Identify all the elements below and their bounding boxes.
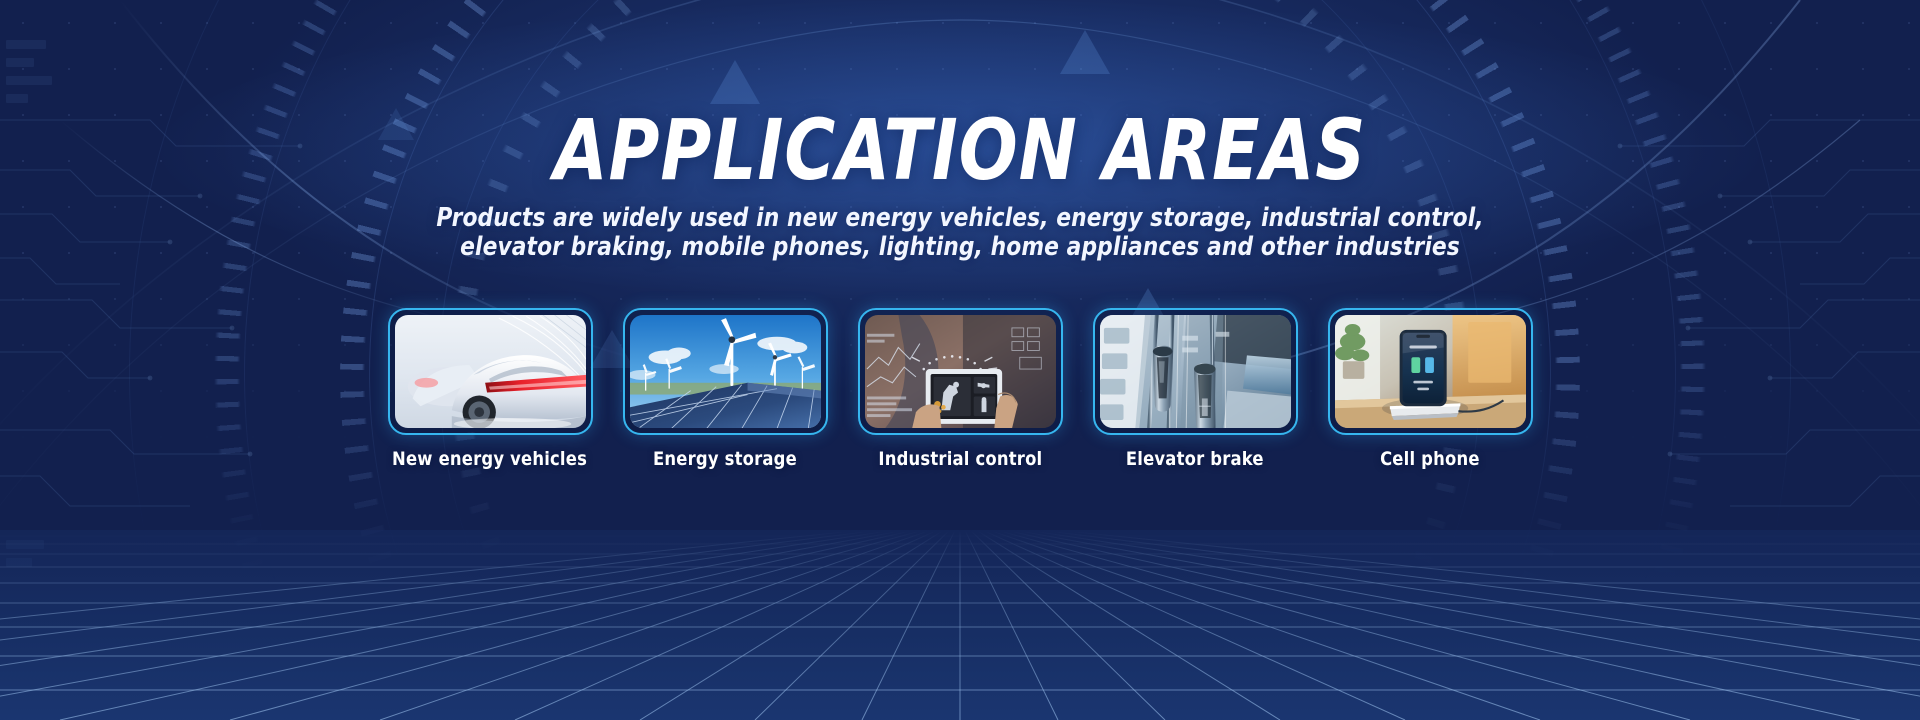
application-card-new-energy-vehicles[interactable]: New energy vehicles xyxy=(388,308,593,470)
card-thumbnail-frame[interactable] xyxy=(388,308,593,435)
card-thumbnail-frame[interactable] xyxy=(858,308,1063,435)
card-label: Energy storage xyxy=(653,448,797,470)
elevator-thumbnail xyxy=(1100,315,1291,428)
card-label: Cell phone xyxy=(1380,448,1480,470)
application-areas-banner: APPLICATION AREAS Products are widely us… xyxy=(0,0,1920,720)
application-card-energy-storage[interactable]: Energy storage xyxy=(623,308,828,470)
card-thumbnail-frame[interactable] xyxy=(1093,308,1298,435)
subtitle-line-2: elevator braking, mobile phones, lightin… xyxy=(48,233,1872,262)
tablet-automation-thumbnail xyxy=(865,315,1056,428)
car-thumbnail xyxy=(395,315,586,428)
card-label: New energy vehicles xyxy=(393,448,588,470)
card-thumbnail-frame[interactable] xyxy=(623,308,828,435)
page-title: APPLICATION AREAS xyxy=(77,108,1843,192)
application-card-list: New energy vehicles xyxy=(0,308,1920,470)
wind-solar-thumbnail xyxy=(630,315,821,428)
application-card-elevator-brake[interactable]: Elevator brake xyxy=(1093,308,1298,470)
card-label: Elevator brake xyxy=(1126,448,1264,470)
card-label: Industrial control xyxy=(878,448,1042,470)
subtitle-line-1: Products are widely used in new energy v… xyxy=(436,203,1483,233)
page-subtitle: Products are widely used in new energy v… xyxy=(48,204,1872,262)
banner-content: APPLICATION AREAS Products are widely us… xyxy=(0,0,1920,720)
card-thumbnail-frame[interactable] xyxy=(1328,308,1533,435)
application-card-cell-phone[interactable]: Cell phone xyxy=(1328,308,1533,470)
application-card-industrial-control[interactable]: Industrial control xyxy=(858,308,1063,470)
phone-charger-thumbnail xyxy=(1335,315,1526,428)
